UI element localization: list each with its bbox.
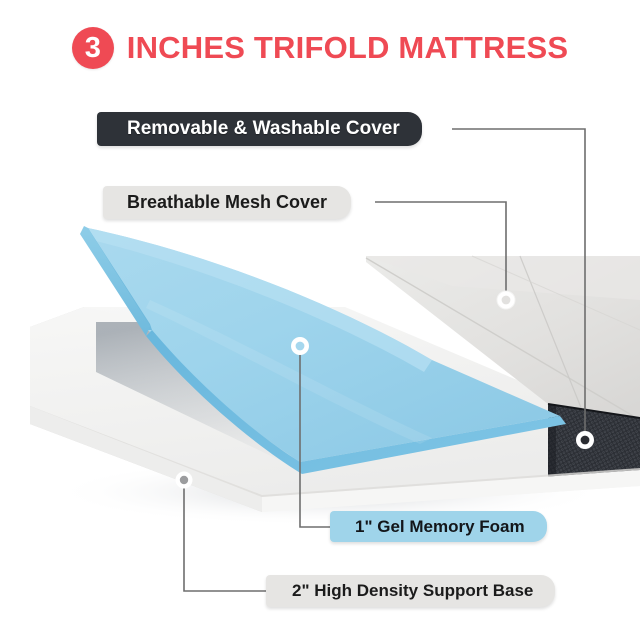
callout-label-high-density-support-base: 2" High Density Support Base [292,581,533,601]
callout-marker-3 [291,337,309,355]
callout-badge-gel-memory-foam[interactable]: 1" Gel Memory Foam [330,511,547,542]
callout-badge-removable-washable-cover[interactable]: Removable & Washable Cover [97,112,422,146]
callout-badge-breathable-mesh-cover[interactable]: Breathable Mesh Cover [103,186,351,219]
callout-label-gel-memory-foam: 1" Gel Memory Foam [355,517,525,537]
callout-badge-high-density-support-base[interactable]: 2" High Density Support Base [266,575,555,607]
callout-marker-4 [176,472,193,489]
callout-marker-2 [497,291,515,309]
callout-label-breathable-mesh-cover: Breathable Mesh Cover [127,192,327,213]
callout-label-removable-washable-cover: Removable & Washable Cover [127,118,400,140]
callout-marker-1 [576,431,594,449]
callout-leader-lines [0,0,640,640]
